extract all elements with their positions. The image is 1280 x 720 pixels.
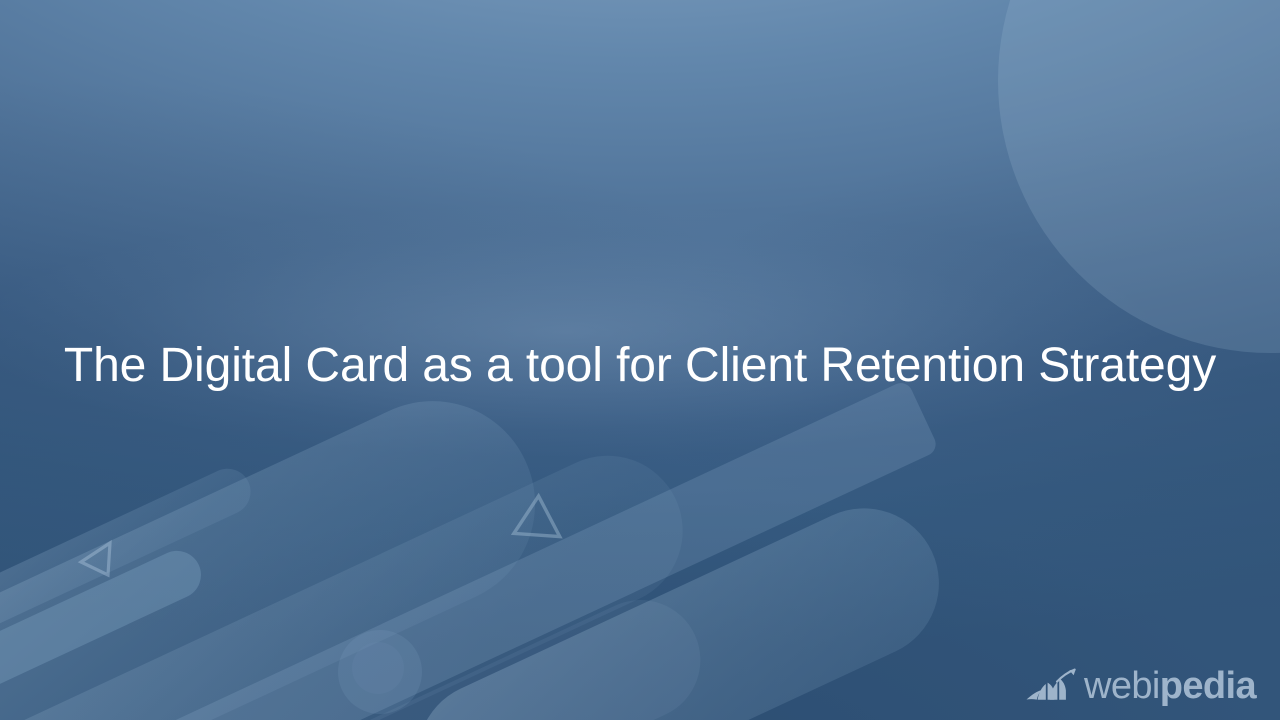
logo-word-bold: pedia — [1160, 667, 1256, 705]
slide-title-container: The Digital Card as a tool for Client Re… — [0, 326, 1280, 406]
webipedia-logo[interactable]: webipedia — [1026, 666, 1256, 706]
presentation-slide: The Digital Card as a tool for Client Re… — [0, 0, 1280, 720]
logo-wordmark: webipedia — [1084, 667, 1256, 705]
webipedia-arrow-mark-icon — [1026, 666, 1080, 706]
logo-word-light: webi — [1084, 667, 1160, 705]
page-title: The Digital Card as a tool for Client Re… — [64, 341, 1216, 391]
